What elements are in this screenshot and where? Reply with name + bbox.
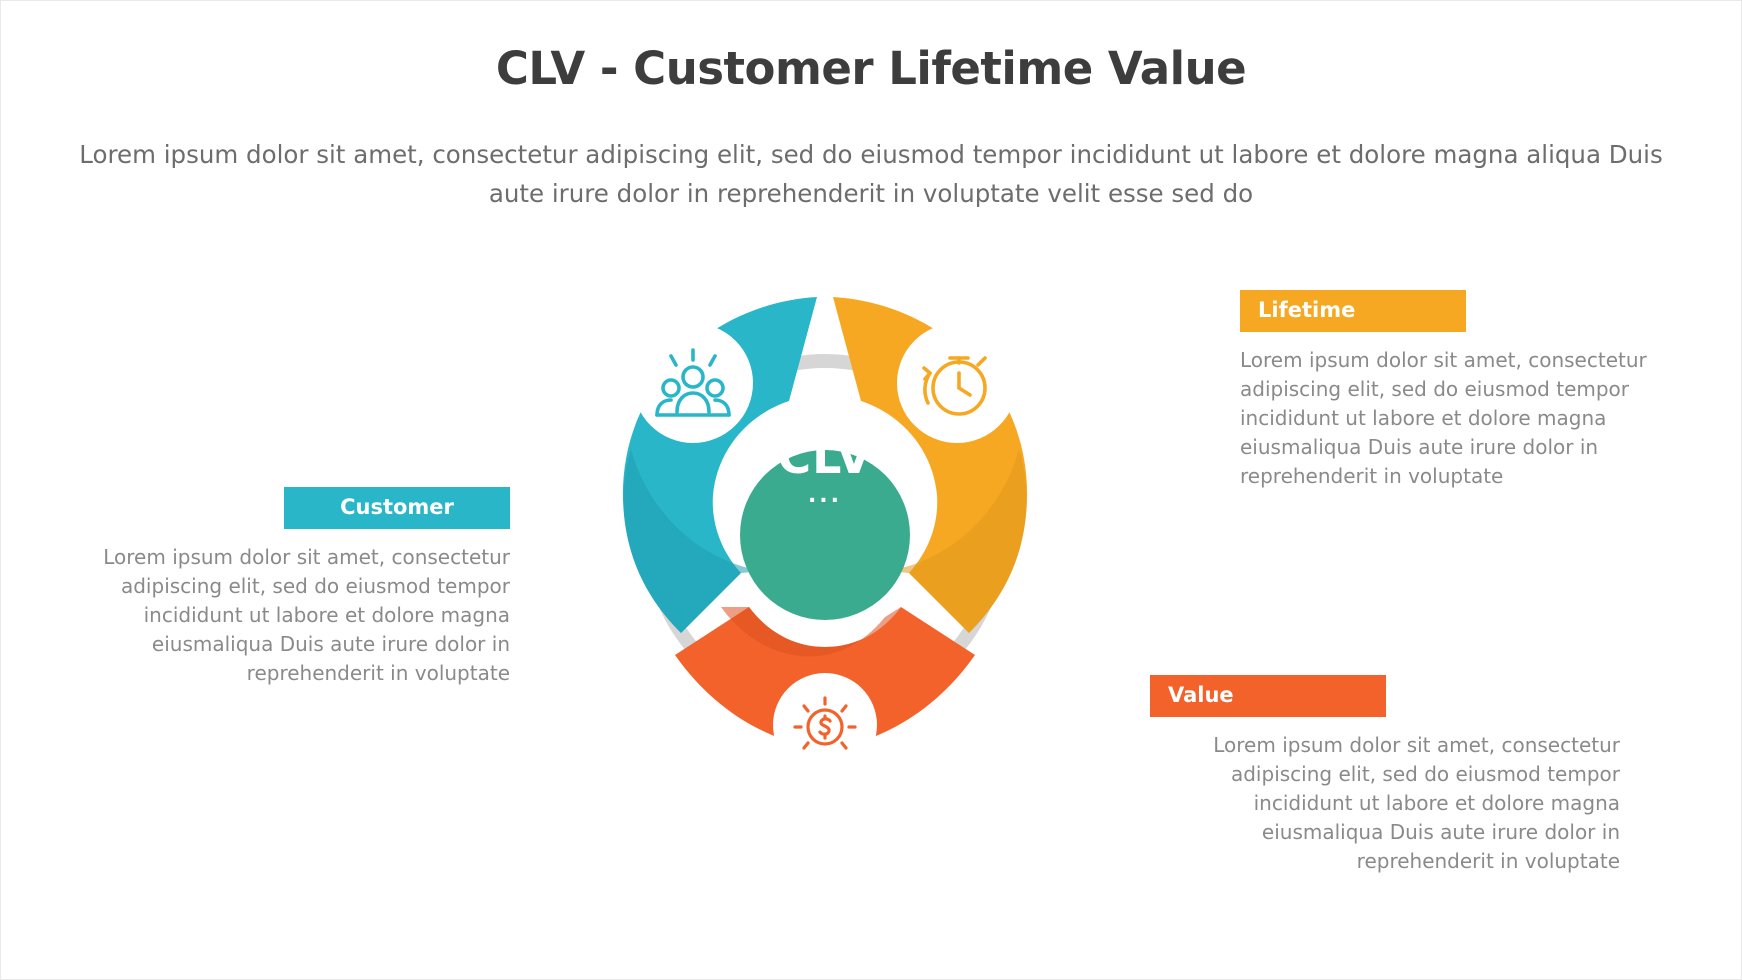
segment-value[interactable] [675, 607, 975, 777]
tag-value[interactable]: Value [1150, 675, 1386, 717]
tag-customer[interactable]: Customer [284, 487, 510, 529]
description-value: Lorem ipsum dolor sit amet, consectetur … [1150, 731, 1620, 876]
block-customer: Customer Lorem ipsum dolor sit amet, con… [80, 487, 510, 688]
lifetime-icon-bg [897, 323, 1017, 443]
description-lifetime: Lorem ipsum dolor sit amet, consectetur … [1240, 346, 1690, 491]
block-lifetime: Lifetime Lorem ipsum dolor sit amet, con… [1240, 290, 1690, 491]
block-value: Value Lorem ipsum dolor sit amet, consec… [1150, 675, 1620, 876]
customer-icon-bg [633, 323, 753, 443]
center-circle[interactable] [740, 450, 910, 620]
page-title: CLV - Customer Lifetime Value [0, 42, 1742, 95]
page-subtitle: Lorem ipsum dolor sit amet, consectetur … [71, 135, 1671, 213]
tag-lifetime[interactable]: Lifetime [1240, 290, 1466, 332]
description-customer: Lorem ipsum dolor sit amet, consectetur … [80, 543, 510, 688]
clv-diagram: CLV ... [545, 255, 1105, 815]
